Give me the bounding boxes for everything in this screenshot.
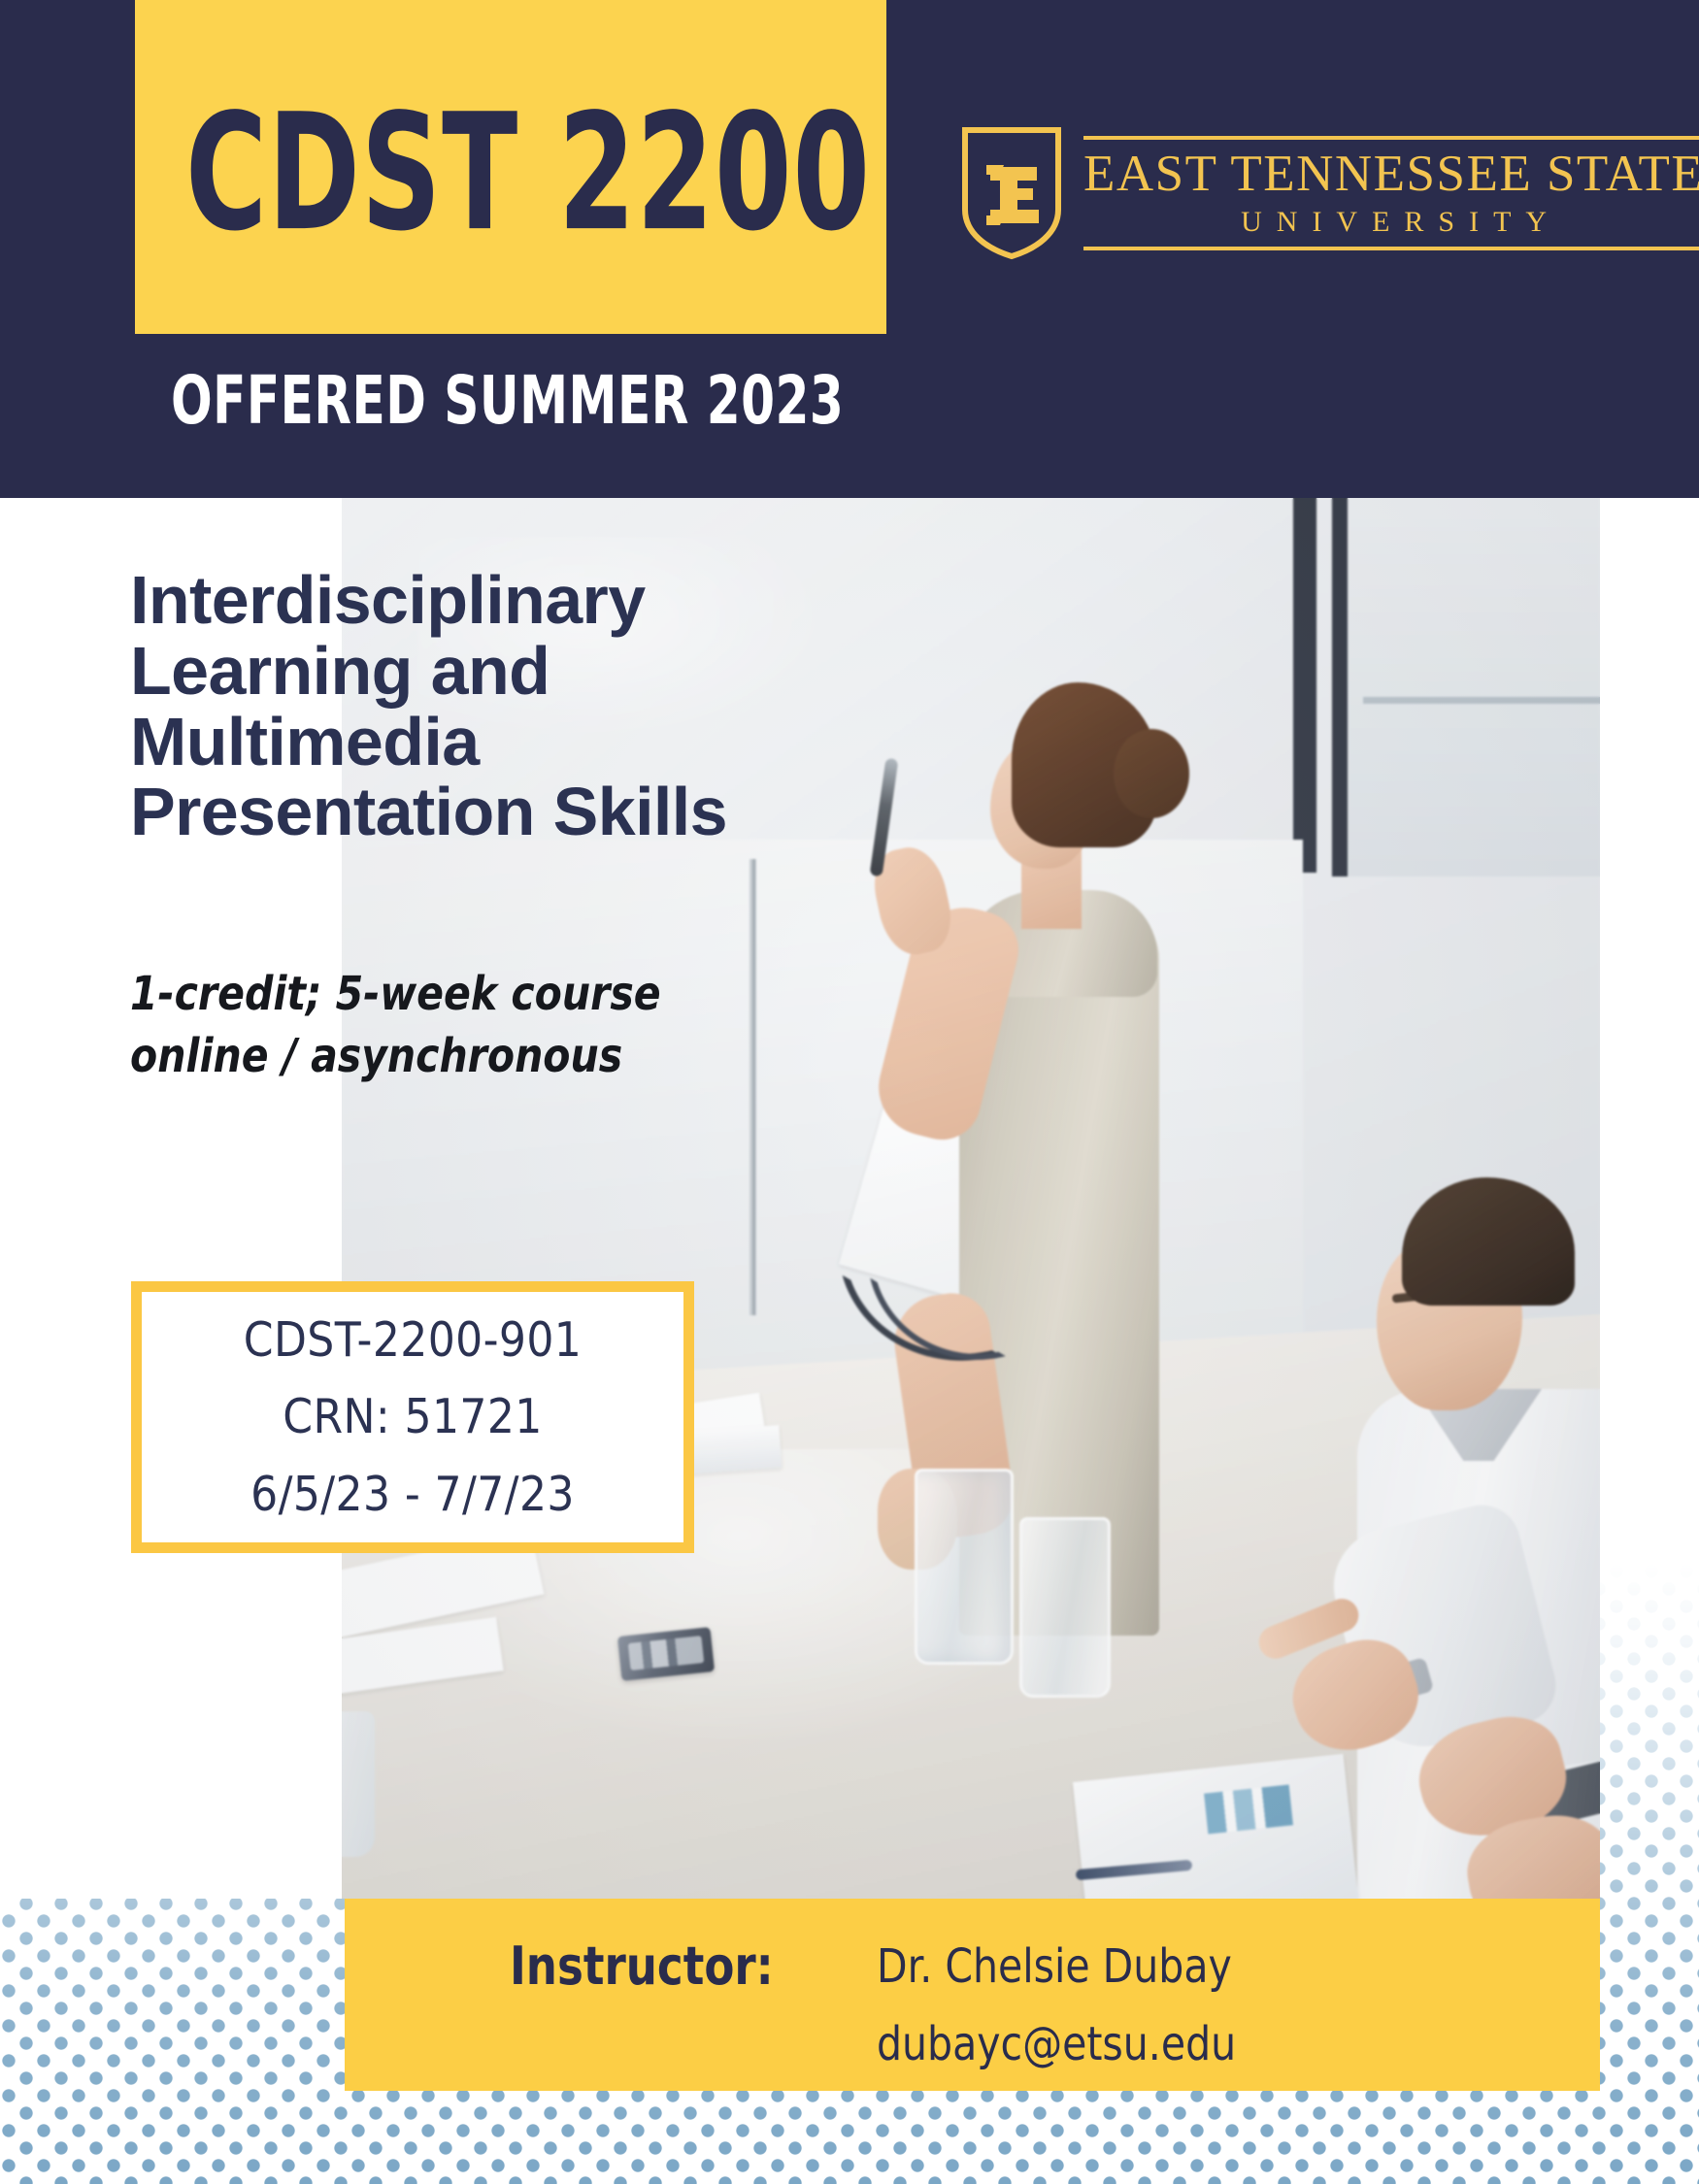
etsu-shield-e-icon <box>961 126 1062 260</box>
flyer-page: CDST 2200 OFFERED SUMMER 2023 East Tenne… <box>0 0 1699 2184</box>
course-dates: 6/5/23 - 7/7/23 <box>250 1456 575 1533</box>
photo-presenter-hair-bun <box>1114 729 1189 818</box>
photo-water-glass <box>1019 1517 1111 1698</box>
course-registration-box: CDST-2200-901 CRN: 51721 6/5/23 - 7/7/23 <box>131 1281 694 1553</box>
etsu-university-name: East Tennessee State <box>1083 140 1699 204</box>
instructor-email[interactable]: dubayc@etsu.edu <box>877 2017 1236 2071</box>
photo-glass-partition <box>1332 498 1600 877</box>
instructor-name: Dr. Chelsie Dubay <box>877 1939 1232 1994</box>
etsu-wordmark: East Tennessee State UNIVERSITY <box>1083 136 1699 250</box>
photo-water-glass <box>342 1711 375 1857</box>
course-credits-line: 1-credit; 5-week course <box>130 963 776 1025</box>
course-code: CDST 2200 <box>185 92 770 253</box>
header-band: CDST 2200 OFFERED SUMMER 2023 East Tenne… <box>0 0 1699 498</box>
photo-water-glass <box>915 1469 1014 1665</box>
page-title: Interdisciplinary Learning and Multimedi… <box>130 565 868 847</box>
course-modality-line: online / asynchronous <box>130 1025 776 1087</box>
etsu-university-subline: UNIVERSITY <box>1083 204 1699 247</box>
course-section-number: CDST-2200-901 <box>244 1302 582 1378</box>
etsu-rule-bottom <box>1083 247 1699 250</box>
etsu-logo: East Tennessee State UNIVERSITY <box>961 124 1621 262</box>
photo-glass-rail <box>1363 697 1600 704</box>
course-code-block: CDST 2200 <box>135 0 886 334</box>
offered-term: OFFERED SUMMER 2023 <box>171 361 844 439</box>
instructor-footer-band: Instructor: Dr. Chelsie Dubay dubayc@ets… <box>345 1899 1600 2091</box>
instructor-label: Instructor: <box>510 1936 774 1997</box>
course-format-details: 1-credit; 5-week course online / asynchr… <box>130 963 776 1088</box>
course-crn: CRN: 51721 <box>283 1378 542 1455</box>
